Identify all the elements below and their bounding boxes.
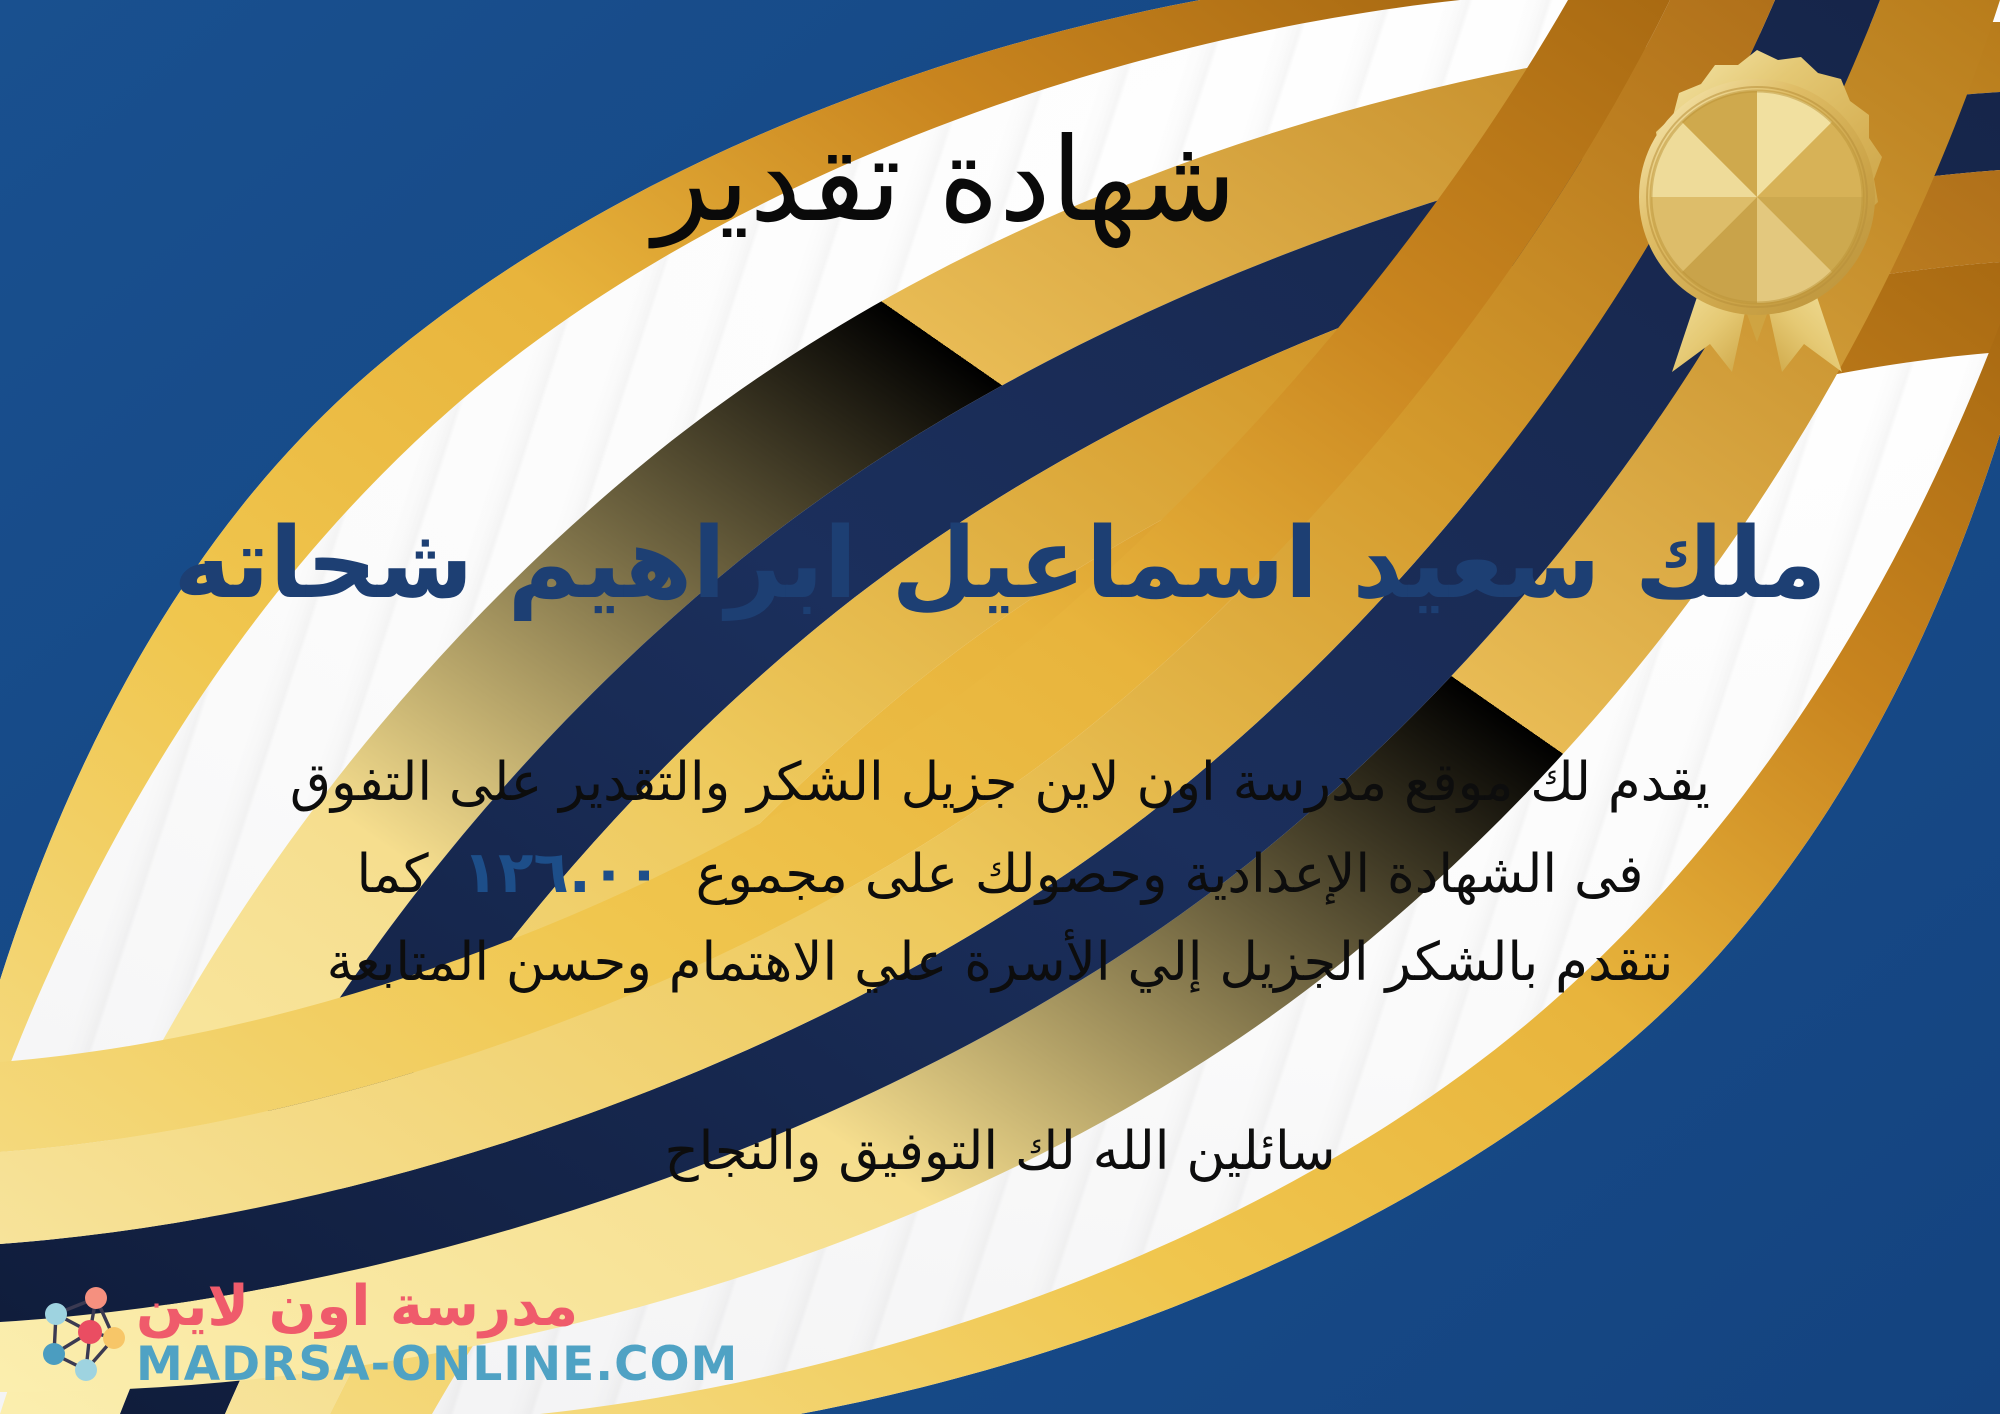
body-line-1: يقدم لك موقع مدرسة اون لاين جزيل الشكر و… (60, 740, 1940, 826)
body-line-2: فى الشهادة الإعدادية وحصولك على مجموع١٢٦… (60, 826, 1940, 920)
brand-logo[interactable]: مدرسة اون لاين MADRSA-ONLINE.COM (34, 1279, 738, 1388)
network-nodes-icon (34, 1282, 130, 1386)
brand-arabic-name: مدرسة اون لاين (136, 1279, 578, 1335)
certificate-content: شهادة تقدير ملك سعيد اسماعيل ابراهيم شحا… (0, 0, 2000, 1414)
certificate-title: شهادة تقدير (0, 118, 2000, 243)
certificate-page: شهادة تقدير ملك سعيد اسماعيل ابراهيم شحا… (0, 0, 2000, 1414)
brand-website: MADRSA-ONLINE.COM (136, 1341, 738, 1388)
body-line-2-before-score: فى الشهادة الإعدادية وحصولك على مجموع (696, 844, 1644, 905)
total-score-value: ١٢٦.٠٠ (429, 838, 696, 906)
closing-line: سائلين الله لك التوفيق والنجاح (0, 1112, 2000, 1192)
brand-text-group: مدرسة اون لاين MADRSA-ONLINE.COM (136, 1279, 738, 1388)
certificate-body: يقدم لك موقع مدرسة اون لاين جزيل الشكر و… (60, 740, 1940, 1006)
body-line-2-after-score: كما (357, 844, 429, 905)
body-line-3: نتقدم بالشكر الجزيل إلي الأسرة علي الاهت… (60, 920, 1940, 1006)
recipient-name: ملك سعيد اسماعيل ابراهيم شحاته (0, 510, 2000, 620)
